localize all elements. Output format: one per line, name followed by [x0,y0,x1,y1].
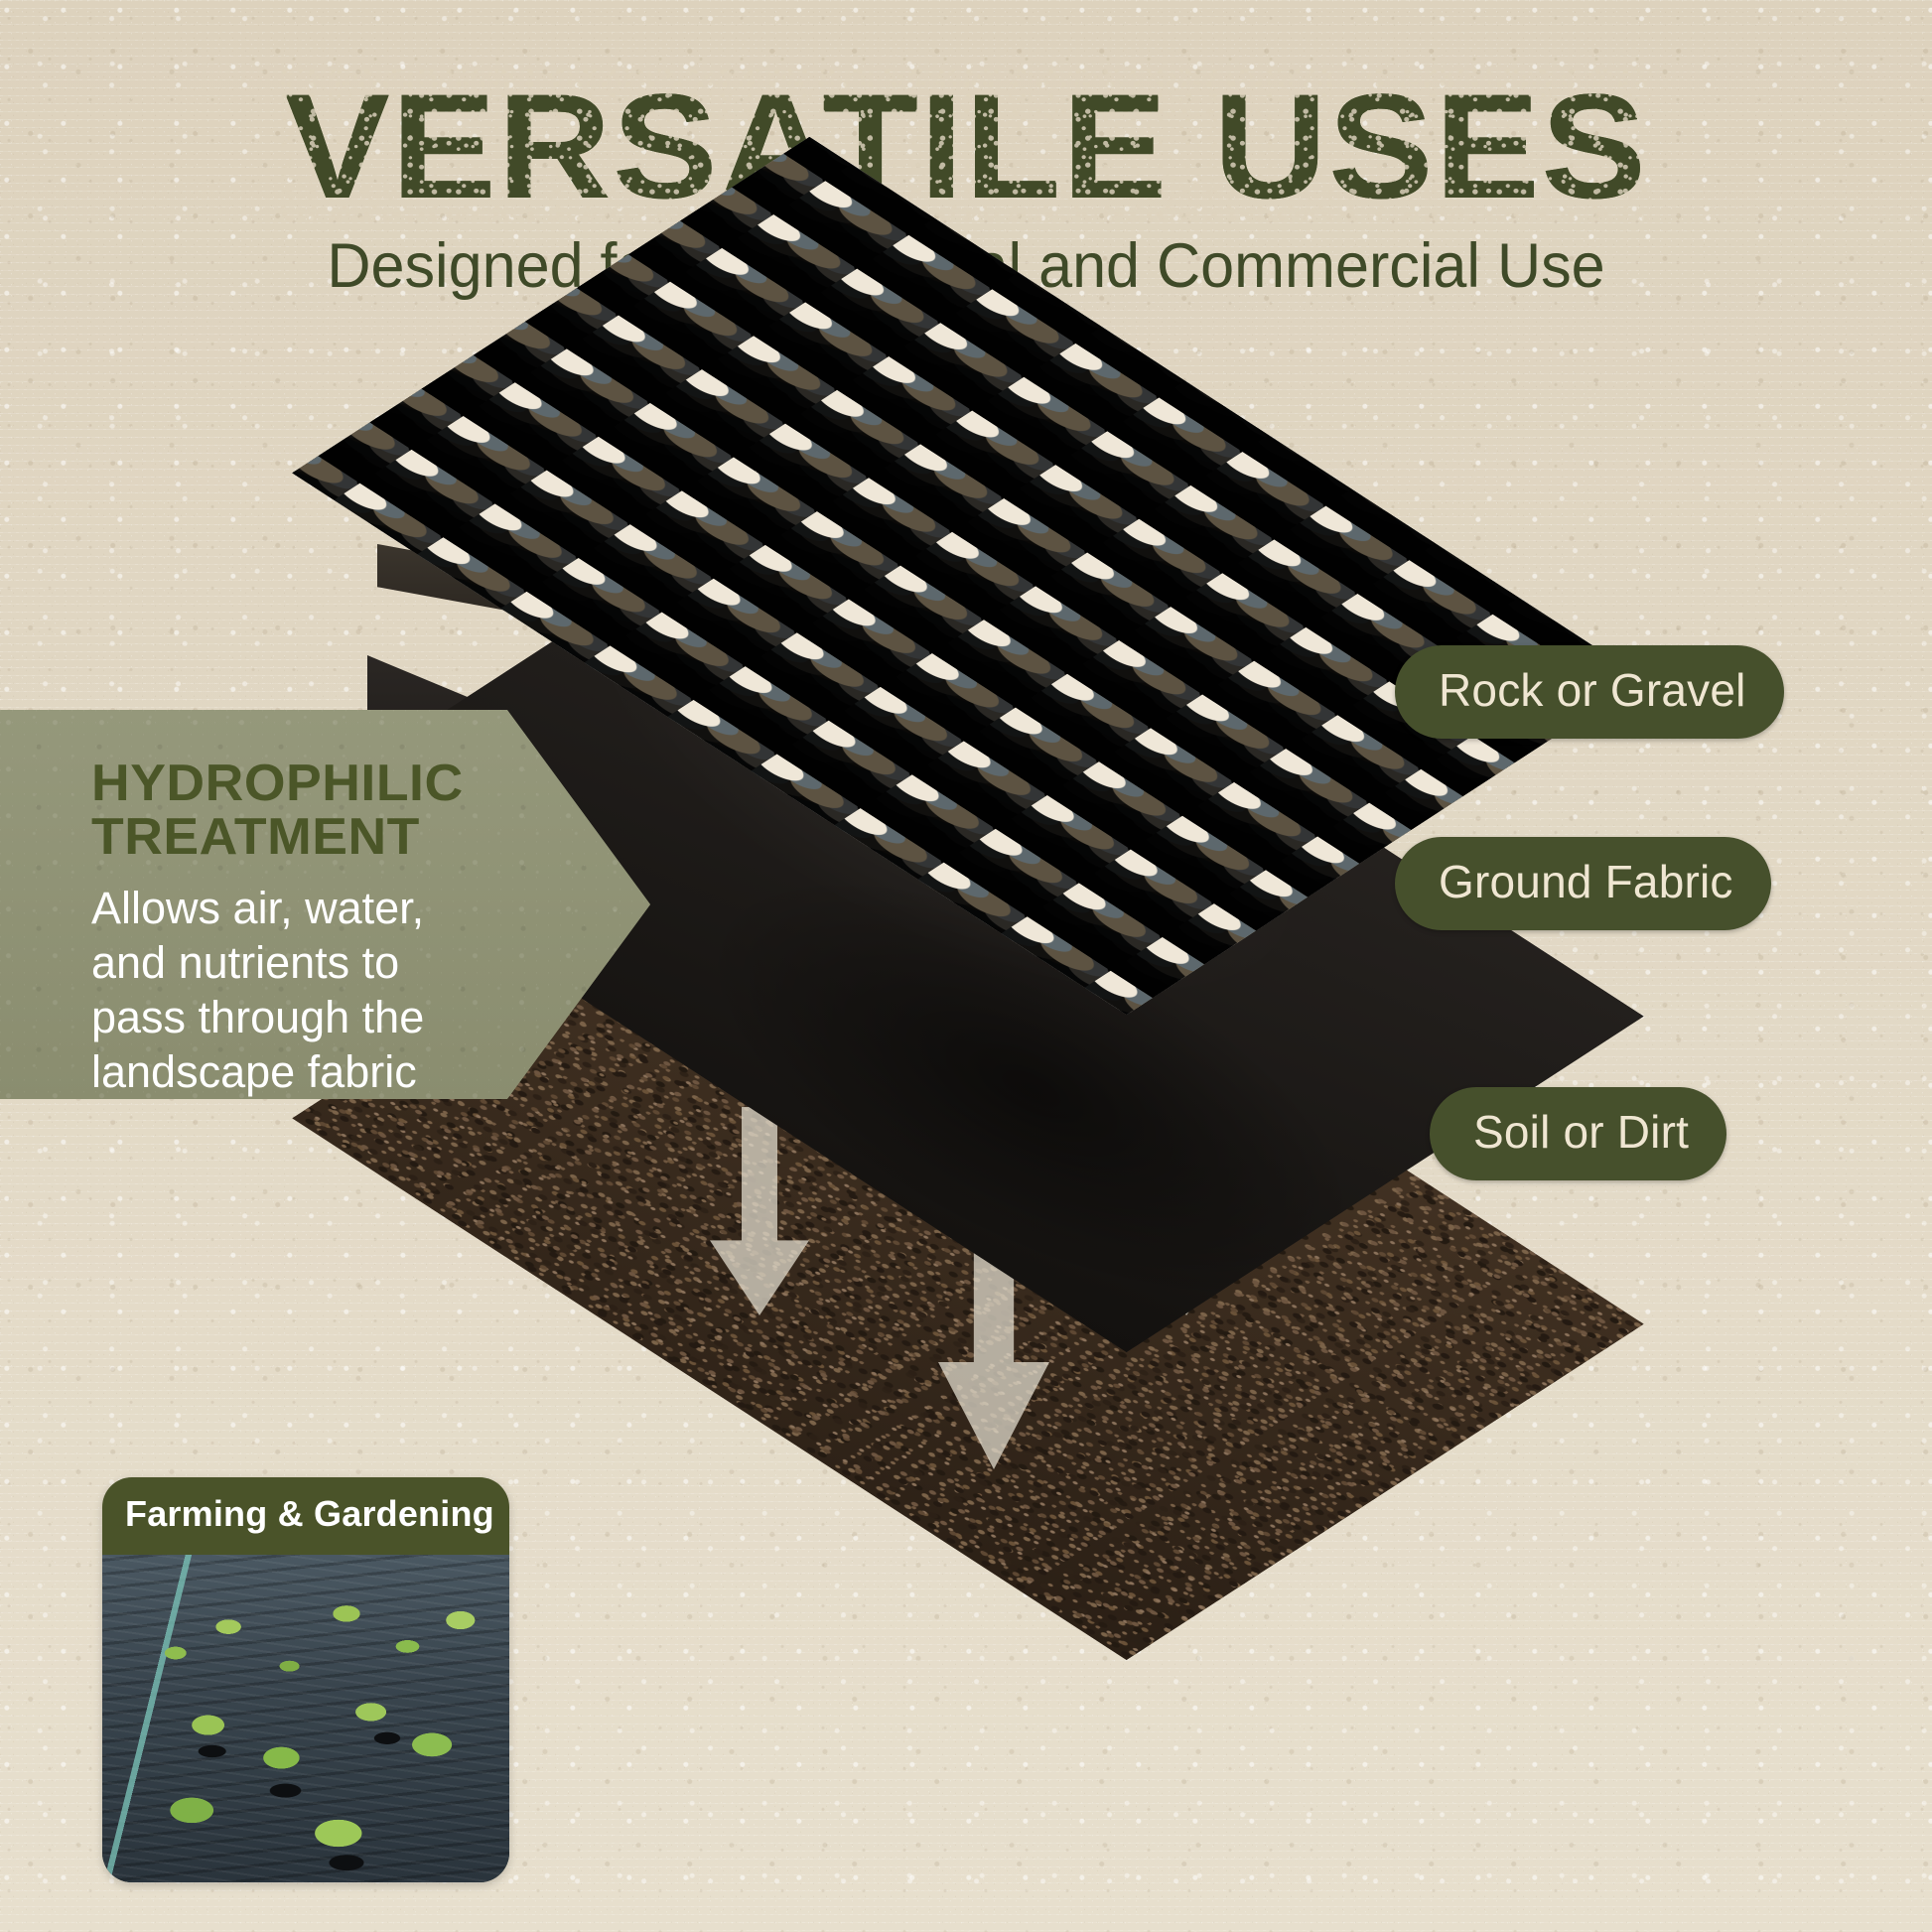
label-soil-or-dirt: Soil or Dirt [1430,1087,1726,1180]
infographic-page: VERSATILE USES Designed for Professional… [0,0,1932,1932]
label-rock-or-gravel: Rock or Gravel [1395,645,1784,739]
label-ground-fabric: Ground Fabric [1395,837,1771,930]
use-case-card-caption: Farming & Gardening [102,1477,509,1547]
use-case-card-farming-gardening[interactable]: Farming & Gardening [102,1477,509,1882]
use-case-card-photo [102,1555,509,1882]
panel-body-text: Allows air, water, and nutrients to pass… [91,882,439,1100]
panel-heading-line-2: TREATMENT [91,811,667,865]
